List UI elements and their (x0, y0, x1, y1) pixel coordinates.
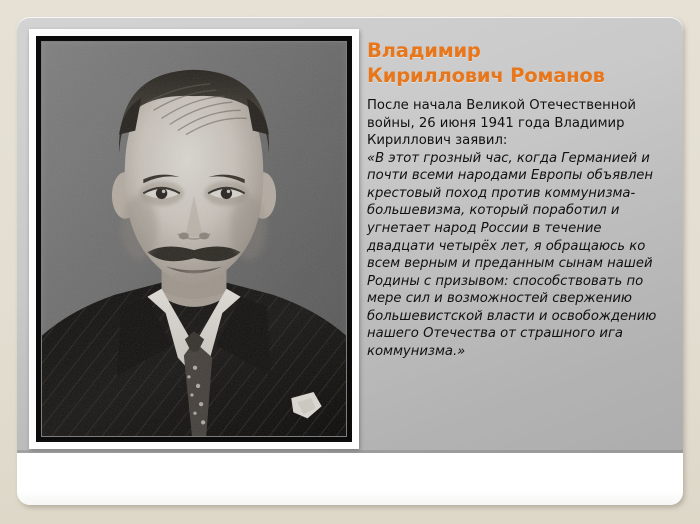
slide-title: Владимир Кириллович Романов (367, 39, 667, 88)
slide-card: Владимир Кириллович Романов После начала… (17, 17, 683, 505)
text-column: Владимир Кириллович Романов После начала… (367, 39, 667, 360)
portrait-photo-image (42, 42, 346, 436)
slide-canvas: Владимир Кириллович Романов После начала… (0, 0, 700, 524)
portrait-photo-frame (29, 29, 359, 449)
body-quote-paragraph: «В этот грозный час, когда Германией и п… (367, 150, 667, 361)
slide-content-panel: Владимир Кириллович Романов После начала… (17, 17, 683, 453)
photo-mat-border (36, 36, 352, 442)
body-intro-paragraph: После начала Великой Отечественной войны… (367, 97, 667, 150)
slide-card-footer (17, 453, 683, 505)
photo-inner-border (41, 41, 347, 437)
